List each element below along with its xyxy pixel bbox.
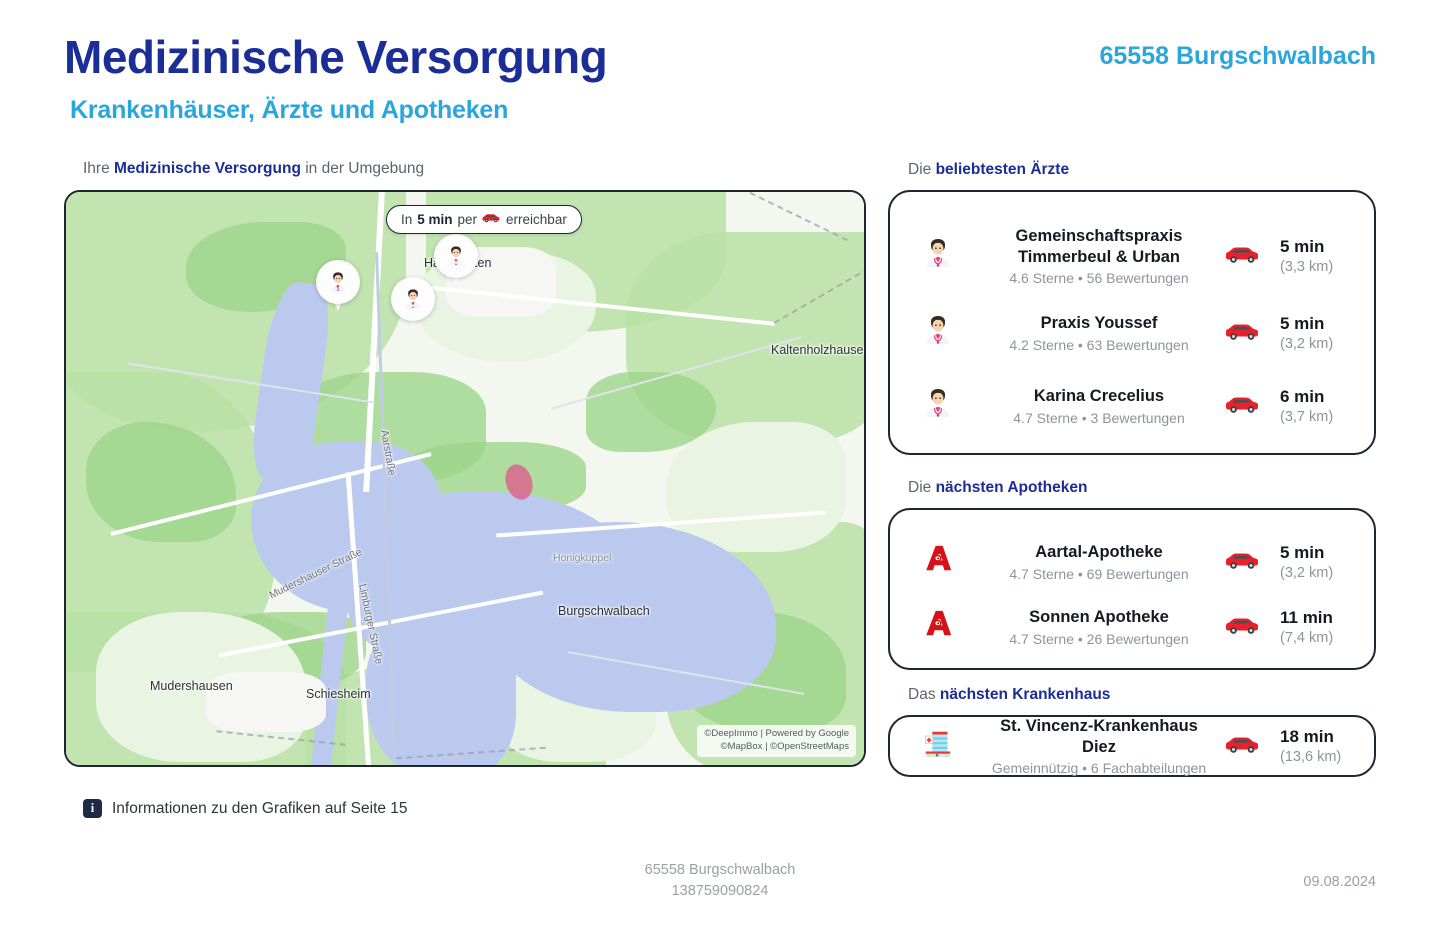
doctor-travel: 5 min (3,2 km) (1274, 314, 1378, 352)
location-label: 65558 Burgschwalbach (1099, 42, 1376, 71)
travel-time: 5 min (1280, 543, 1378, 563)
doctor-rating: 4.6 Sterne • 56 Bewertungen (990, 270, 1208, 286)
doctor-icon (316, 260, 360, 304)
pharmacy-travel: 11 min (7,4 km) (1274, 608, 1378, 646)
map-canvas[interactable]: Hahnstätten Kaltenholzhausen Honigkuppel… (66, 192, 864, 765)
doctor-info: Gemeinschaftspraxis Timmerbeul & Urban 4… (986, 226, 1212, 285)
doctors-caption: Die beliebtesten Ärzte (908, 161, 1069, 179)
map-label-honigkuppel: Honigkuppel (553, 552, 611, 564)
map-pin-doctor[interactable] (391, 277, 435, 333)
pharmacy-rating: 4.7 Sterne • 26 Bewertungen (990, 631, 1208, 647)
map-attribution-line1: ©DeepImmo | Powered by Google (704, 728, 849, 741)
map-attribution: ©DeepImmo | Powered by Google ©MapBox | … (697, 725, 856, 757)
travel-time: 18 min (1280, 727, 1378, 747)
pharmacy-travel: 5 min (3,2 km) (1274, 543, 1378, 581)
doctor-icon (890, 314, 986, 352)
doctor-name: Karina Crecelius (990, 386, 1208, 406)
doctor-row[interactable]: Gemeinschaftspraxis Timmerbeul & Urban 4… (890, 220, 1378, 292)
map-pin-doctor[interactable] (316, 260, 360, 316)
map-label-mudershausen: Mudershausen (150, 679, 233, 693)
doctor-travel: 6 min (3,7 km) (1274, 387, 1378, 425)
badge-mid: per (458, 212, 478, 227)
map-label-schiesheim: Schiesheim (306, 687, 371, 701)
doctor-name: Praxis Youssef (990, 313, 1208, 333)
car-icon (1212, 320, 1274, 346)
map-pin-doctor[interactable] (434, 234, 478, 290)
pharmacies-caption-bold: nächsten Apotheken (936, 479, 1088, 496)
car-icon (1212, 549, 1274, 575)
travel-time: 5 min (1280, 314, 1378, 334)
doctors-caption-pre: Die (908, 161, 936, 178)
info-note-text: Informationen zu den Grafiken auf Seite … (112, 800, 408, 818)
pharmacy-name: Sonnen Apotheke (990, 607, 1208, 627)
doctors-card: Gemeinschaftspraxis Timmerbeul & Urban 4… (888, 190, 1376, 455)
pharmacy-rating: 4.7 Sterne • 69 Bewertungen (990, 566, 1208, 582)
car-icon (482, 212, 501, 227)
car-icon (1212, 393, 1274, 419)
hospital-caption-pre: Das (908, 686, 940, 703)
hospital-icon (890, 727, 986, 765)
doctor-row[interactable]: Praxis Youssef 4.2 Sterne • 63 Bewertung… (890, 303, 1378, 363)
pharmacy-icon (890, 608, 986, 646)
info-note: i Informationen zu den Grafiken auf Seit… (83, 799, 408, 818)
doctor-rating: 4.2 Sterne • 63 Bewertungen (990, 337, 1208, 353)
pharmacy-name: Aartal-Apotheke (990, 542, 1208, 562)
page-title: Medizinische Versorgung (64, 30, 607, 84)
car-icon (1212, 243, 1274, 269)
travel-time: 5 min (1280, 237, 1378, 257)
badge-post: erreichbar (506, 212, 567, 227)
doctor-name-line1: Gemeinschaftspraxis (990, 226, 1208, 246)
pharmacy-info: Aartal-Apotheke 4.7 Sterne • 69 Bewertun… (986, 542, 1212, 581)
doctors-caption-bold: beliebtesten Ärzte (936, 161, 1070, 178)
hospital-travel: 18 min (13,6 km) (1274, 727, 1378, 765)
pharmacies-caption-pre: Die (908, 479, 936, 496)
doctor-name-line2: Timmerbeul & Urban (990, 247, 1208, 267)
badge-time: 5 min (417, 212, 452, 227)
hospital-row[interactable]: St. Vincenz-Krankenhaus Diez Gemeinnützi… (890, 717, 1378, 775)
doctor-info: Karina Crecelius 4.7 Sterne • 3 Bewertun… (986, 386, 1212, 425)
travel-distance: (3,3 km) (1280, 259, 1378, 275)
doctor-row[interactable]: Karina Crecelius 4.7 Sterne • 3 Bewertun… (890, 376, 1378, 436)
hospital-name: St. Vincenz-Krankenhaus Diez (990, 716, 1208, 756)
doctor-icon (391, 277, 435, 321)
doctor-travel: 5 min (3,3 km) (1274, 237, 1378, 275)
page-header: Medizinische Versorgung Krankenhäuser, Ä… (0, 0, 1440, 150)
pharmacy-info: Sonnen Apotheke 4.7 Sterne • 26 Bewertun… (986, 607, 1212, 646)
map-caption-post: in der Umgebung (301, 160, 424, 177)
map-container[interactable]: Hahnstätten Kaltenholzhausen Honigkuppel… (64, 190, 866, 767)
doctor-info: Praxis Youssef 4.2 Sterne • 63 Bewertung… (986, 313, 1212, 352)
badge-pre: In (401, 212, 412, 227)
map-label-kaltenholzhausen: Kaltenholzhausen (771, 343, 866, 357)
hospital-caption: Das nächsten Krankenhaus (908, 686, 1110, 704)
info-icon: i (83, 799, 102, 818)
doctor-icon (890, 387, 986, 425)
map-label-burgschwalbach: Burgschwalbach (558, 604, 650, 618)
travel-distance: (3,2 km) (1280, 565, 1378, 581)
hospital-card: St. Vincenz-Krankenhaus Diez Gemeinnützi… (888, 715, 1376, 777)
travel-distance: (7,4 km) (1280, 630, 1378, 646)
pharmacy-icon (890, 543, 986, 581)
map-attribution-line2: ©MapBox | ©OpenStreetMaps (704, 741, 849, 754)
pharmacy-row[interactable]: Sonnen Apotheke 4.7 Sterne • 26 Bewertun… (890, 597, 1378, 657)
hospital-caption-bold: nächsten Krankenhaus (940, 686, 1111, 703)
map-open-field (666, 422, 846, 552)
map-caption-pre: Ihre (83, 160, 114, 177)
travel-time: 11 min (1280, 608, 1378, 628)
footer-reference: 138759090824 (0, 881, 1440, 902)
footer-location: 65558 Burgschwalbach (0, 860, 1440, 881)
travel-distance: (3,2 km) (1280, 336, 1378, 352)
pharmacy-row[interactable]: Aartal-Apotheke 4.7 Sterne • 69 Bewertun… (890, 532, 1378, 592)
doctor-rating: 4.7 Sterne • 3 Bewertungen (990, 410, 1208, 426)
travel-distance: (13,6 km) (1280, 749, 1378, 765)
doctor-icon (434, 234, 478, 278)
footer-date: 09.08.2024 (1303, 874, 1376, 890)
map-caption: Ihre Medizinische Versorgung in der Umge… (83, 160, 424, 178)
hospital-info: St. Vincenz-Krankenhaus Diez Gemeinnützi… (986, 716, 1212, 775)
page-root: Medizinische Versorgung Krankenhäuser, Ä… (0, 0, 1440, 942)
doctor-icon (890, 237, 986, 275)
travel-time: 6 min (1280, 387, 1378, 407)
travel-distance: (3,7 km) (1280, 409, 1378, 425)
page-subtitle: Krankenhäuser, Ärzte und Apotheken (70, 96, 508, 125)
car-icon (1212, 733, 1274, 759)
doctor-name: Gemeinschaftspraxis Timmerbeul & Urban (990, 226, 1208, 266)
map-caption-bold: Medizinische Versorgung (114, 160, 301, 177)
pharmacies-card: Aartal-Apotheke 4.7 Sterne • 69 Bewertun… (888, 508, 1376, 670)
car-icon (1212, 614, 1274, 640)
hospital-details: Gemeinnützig • 6 Fachabteilungen (990, 760, 1208, 776)
pharmacies-caption: Die nächsten Apotheken (908, 479, 1087, 497)
map-reachability-badge: In 5 min per erreichbar (386, 205, 582, 234)
footer-center: 65558 Burgschwalbach 138759090824 (0, 860, 1440, 902)
